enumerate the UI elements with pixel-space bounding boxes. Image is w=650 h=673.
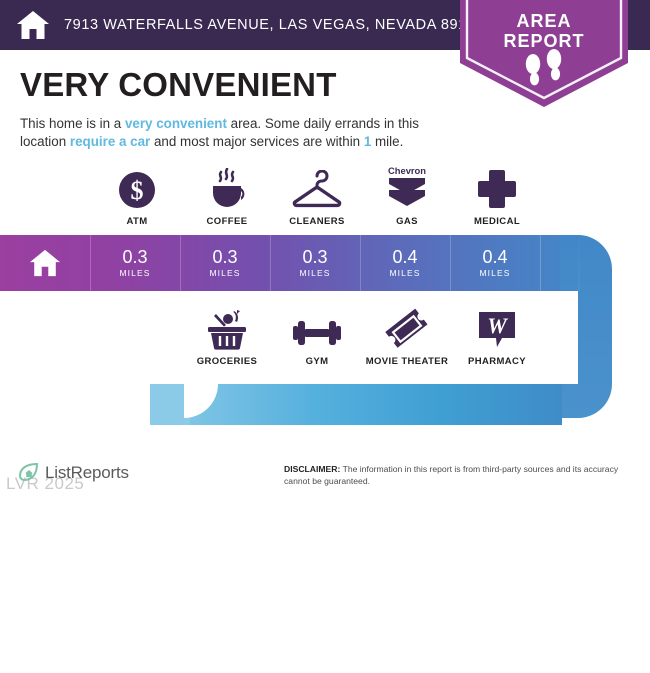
summary-text: This home is in a very convenient area. …	[20, 115, 460, 151]
amenity-label: COFFEE	[207, 216, 248, 227]
amenity-label: CLEANERS	[289, 216, 344, 227]
amenity-label: MEDICAL	[474, 216, 520, 227]
distance-value: 0.3	[302, 248, 327, 267]
property-address: 7913 WATERFALLS AVENUE, LAS VEGAS, NEVAD…	[64, 17, 484, 33]
distance-cell-gas: 0.4 MILES	[360, 235, 450, 291]
medical-cross-icon	[476, 168, 518, 210]
amenity-medical: MEDICAL	[452, 168, 542, 227]
distance-bar-row-1: 0.3 MILES 0.3 MILES 0.3 MILES 0.4 MILES …	[0, 235, 612, 291]
distance-unit: MILES	[301, 651, 332, 661]
area-report-infographic: 7913 WATERFALLS AVENUE, LAS VEGAS, NEVAD…	[0, 0, 650, 500]
home-icon	[29, 248, 61, 278]
home-icon	[16, 9, 50, 41]
dollar-circle-icon: $	[117, 168, 157, 210]
distance-unit: MILES	[389, 268, 420, 278]
badge-label: AREA REPORT	[460, 11, 628, 51]
amenity-label: ATM	[126, 216, 147, 227]
distance-value: 0.5	[484, 631, 509, 650]
distance-bar-row-2: 0.7 MILES 0.6 MILES 0.5 MILES 0.5 MILES	[150, 619, 612, 673]
amenity-atm: $ ATM	[92, 168, 182, 227]
disclaimer-label: DISCLAIMER:	[284, 464, 340, 474]
distance-unit: MILES	[479, 268, 510, 278]
listreports-logo-text: ListReports	[45, 463, 129, 483]
summary-highlight-convenient: very convenient	[125, 116, 227, 131]
distance-cell-cleaners: 0.3 MILES	[270, 235, 360, 291]
distance-cell-coffee: 0.3 MILES	[180, 235, 270, 291]
amenity-cleaners: CLEANERS	[272, 168, 362, 227]
distance-value: 0.4	[482, 248, 507, 267]
distance-cell-medical: 0.4 MILES	[450, 235, 540, 291]
disclaimer: DISCLAIMER: The information in this repo…	[284, 464, 636, 487]
distance-unit: MILES	[481, 651, 512, 661]
summary-highlight-car: require a car	[70, 134, 150, 149]
distance-value: 0.3	[122, 248, 147, 267]
listreports-logo: ListReports	[18, 462, 129, 484]
distance-value: 0.4	[392, 248, 417, 267]
page-title: VERY CONVENIENT	[20, 66, 337, 104]
distance-unit: MILES	[119, 268, 150, 278]
chevron-logo-icon: Chevron	[382, 168, 432, 210]
bar-2-lead-spacer	[150, 619, 182, 673]
distance-cell-gym: 0.6 MILES	[272, 619, 362, 673]
gas-brand-text: Chevron	[388, 165, 426, 176]
distance-value: 0.5	[394, 631, 419, 650]
distance-value: 0.6	[304, 631, 329, 650]
distance-unit: MILES	[299, 268, 330, 278]
svg-text:$: $	[131, 176, 144, 205]
amenity-coffee: COFFEE	[182, 168, 272, 227]
distance-unit: MILES	[211, 651, 242, 661]
badge-line-1: AREA	[460, 11, 628, 31]
clothes-hanger-icon	[291, 168, 343, 210]
amenity-label: GAS	[396, 216, 418, 227]
distance-cell-pharmacy: 0.5 MILES	[452, 619, 542, 673]
distance-cell-atm: 0.3 MILES	[90, 235, 180, 291]
badge-line-2: REPORT	[460, 31, 628, 51]
distance-ribbon: 0.3 MILES 0.3 MILES 0.3 MILES 0.4 MILES …	[0, 235, 650, 425]
summary-part-3: and most major services are within	[150, 134, 364, 149]
amenity-gas: Chevron GAS	[362, 168, 452, 227]
distance-unit: MILES	[209, 268, 240, 278]
listreports-leaf-home-icon	[18, 462, 40, 484]
coffee-cup-icon	[205, 168, 249, 210]
distance-value: 0.7	[214, 631, 239, 650]
area-report-badge: AREA REPORT	[460, 0, 628, 109]
distance-unit: MILES	[391, 651, 422, 661]
amenity-icons-row-1: $ ATM COFFEE	[92, 168, 592, 227]
distance-cell-groceries: 0.7 MILES	[182, 619, 272, 673]
summary-part-4: mile.	[371, 134, 403, 149]
distance-cell-movie-theater: 0.5 MILES	[362, 619, 452, 673]
summary-part-1: This home is in a	[20, 116, 125, 131]
distance-value: 0.3	[212, 248, 237, 267]
origin-home-cell	[0, 235, 90, 291]
